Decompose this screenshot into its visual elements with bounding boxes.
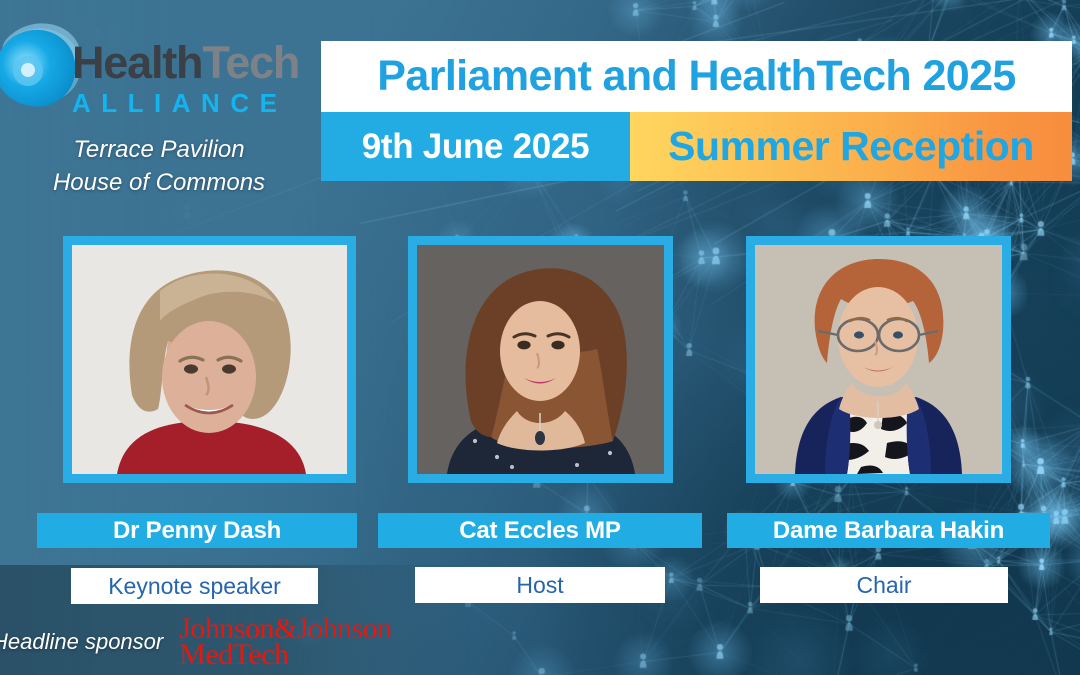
speaker-card-2: Dame Barbara Hakin Chair bbox=[727, 236, 1050, 603]
event-subtitle-bar: 9th June 2025 Summer Reception bbox=[321, 112, 1072, 181]
speaker-card-0: Dr Penny Dash Keynote speaker bbox=[37, 236, 357, 604]
speaker-photo-1 bbox=[408, 236, 673, 483]
speaker-portrait-image-2 bbox=[755, 245, 1002, 474]
speaker-role-1: Host bbox=[516, 572, 563, 599]
title-banner: Parliament and HealthTech 2025 9th June … bbox=[321, 41, 1072, 181]
event-title: Parliament and HealthTech 2025 bbox=[377, 52, 1015, 101]
brand-name-row: HealthTech bbox=[72, 42, 299, 85]
speaker-name-1: Cat Eccles MP bbox=[459, 517, 620, 545]
speaker-role-2: Chair bbox=[857, 572, 912, 599]
speaker-card-1: Cat Eccles MP Host bbox=[378, 236, 702, 603]
johnson-and-johnson-medtech-logo: Johnson&Johnson MedTech bbox=[179, 614, 392, 670]
venue-line-2: House of Commons bbox=[0, 166, 318, 199]
poster-canvas: HealthTech ALLIANCE Terrace Pavilion Hou… bbox=[0, 0, 1080, 675]
brand-name-tech: Tech bbox=[202, 37, 299, 88]
speaker-role-bar-2: Chair bbox=[760, 567, 1008, 603]
event-title-bar: Parliament and HealthTech 2025 bbox=[321, 41, 1072, 112]
sponsor-label: Headline sponsor bbox=[0, 629, 163, 655]
event-date-block: 9th June 2025 bbox=[321, 112, 630, 181]
brand-logo: HealthTech ALLIANCE bbox=[0, 14, 310, 124]
event-subtitle: Summer Reception bbox=[668, 123, 1034, 170]
brand-name-alliance: ALLIANCE bbox=[72, 87, 299, 120]
speaker-role-0: Keynote speaker bbox=[108, 573, 281, 600]
speaker-photo-2 bbox=[746, 236, 1011, 483]
speaker-role-bar-0: Keynote speaker bbox=[71, 568, 318, 604]
brand-wordmark: HealthTech ALLIANCE bbox=[72, 42, 299, 119]
speaker-photo-0 bbox=[63, 236, 356, 483]
venue-line-1: Terrace Pavilion bbox=[0, 133, 318, 166]
speaker-name-2: Dame Barbara Hakin bbox=[773, 517, 1004, 545]
speaker-name-bar-0: Dr Penny Dash bbox=[37, 513, 357, 548]
event-date: 9th June 2025 bbox=[362, 127, 590, 167]
event-subtitle-block: Summer Reception bbox=[630, 112, 1072, 181]
speaker-name-bar-1: Cat Eccles MP bbox=[378, 513, 702, 548]
speaker-portrait-image-1 bbox=[417, 245, 664, 474]
venue-block: Terrace Pavilion House of Commons bbox=[0, 133, 318, 199]
speaker-name-bar-2: Dame Barbara Hakin bbox=[727, 513, 1050, 548]
sponsor-block: Headline sponsor Johnson&Johnson MedTech bbox=[0, 614, 392, 670]
speaker-portrait-image-0 bbox=[72, 245, 347, 474]
speaker-role-bar-1: Host bbox=[415, 567, 665, 603]
speaker-name-0: Dr Penny Dash bbox=[113, 517, 281, 545]
brand-name-health: Health bbox=[72, 37, 202, 88]
